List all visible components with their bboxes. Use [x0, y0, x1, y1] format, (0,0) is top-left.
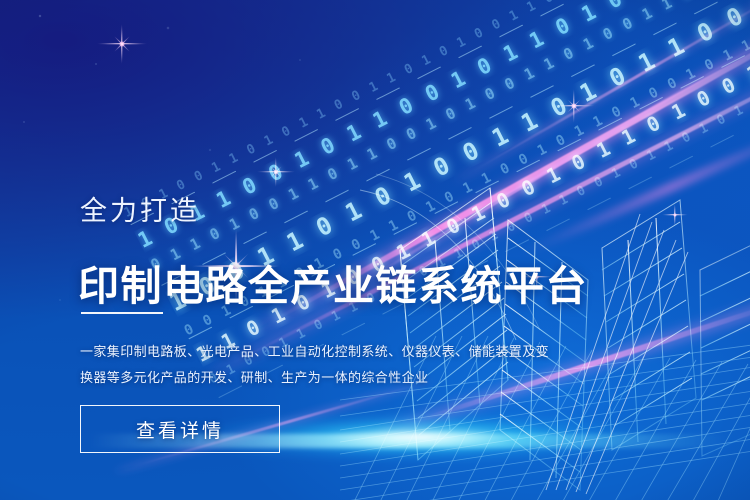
page-title: 印制电路全产业链系统平台: [78, 263, 588, 311]
description-text: 一家集印制电路板、光电产品、工业自动化控制系统、仪器仪表、储能装置及变换器等多元…: [80, 339, 560, 391]
hero-banner: 1 0 1 0 0 1 1 0 1 0 1 1 0 0 1 1 0 1 0 1 …: [0, 0, 750, 500]
eyebrow-text: 全力打造: [80, 198, 200, 225]
hero-content: 全力打造 印制电路全产业链系统平台 一家集印制电路板、光电产品、工业自动化控制系…: [80, 0, 640, 500]
view-details-button[interactable]: 查看详情: [80, 405, 280, 453]
title-divider: [81, 312, 163, 314]
